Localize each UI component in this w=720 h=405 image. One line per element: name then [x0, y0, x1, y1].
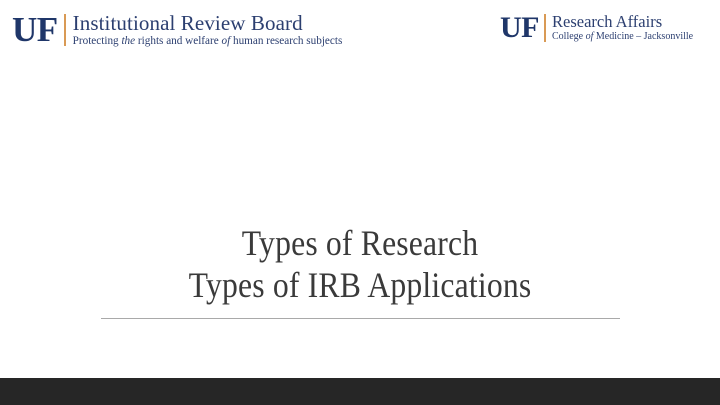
research-logo-tagline: College of Medicine – Jacksonville — [552, 32, 693, 43]
uf-wordmark-icon: UF — [500, 13, 539, 43]
research-tagline-part-1: College — [552, 31, 586, 42]
slide-title-block: Types of Research Types of IRB Applicati… — [0, 222, 720, 306]
slide-title-line-2: Types of IRB Applications — [43, 264, 677, 306]
irb-tagline-part-2: rights and welfare — [135, 35, 221, 47]
irb-tagline-italic-2: of — [221, 35, 230, 47]
slide-title-line-1: Types of Research — [43, 222, 677, 264]
presentation-slide: UF Institutional Review Board Protecting… — [0, 0, 720, 405]
irb-tagline-italic-1: the — [121, 35, 135, 47]
irb-logo-tagline: Protecting the rights and welfare of hum… — [73, 36, 343, 48]
irb-logo-text: Institutional Review Board Protecting th… — [73, 12, 343, 48]
irb-logo-title: Institutional Review Board — [73, 12, 343, 34]
logo-divider-rule — [544, 14, 546, 42]
uf-wordmark-icon: UF — [12, 12, 58, 48]
uf-research-affairs-logo-lockup: UF Research Affairs College of Medicine … — [500, 13, 693, 43]
title-divider — [101, 318, 620, 319]
research-logo-title: Research Affairs — [552, 13, 693, 30]
research-logo-text: Research Affairs College of Medicine – J… — [552, 13, 693, 43]
irb-tagline-part-1: Protecting — [73, 35, 122, 47]
footer-bar — [0, 378, 720, 405]
logo-divider-rule — [64, 14, 66, 46]
irb-tagline-part-3: human research subjects — [230, 35, 342, 47]
uf-irb-logo-lockup: UF Institutional Review Board Protecting… — [12, 12, 342, 48]
research-tagline-part-2: Medicine – Jacksonville — [593, 31, 693, 42]
